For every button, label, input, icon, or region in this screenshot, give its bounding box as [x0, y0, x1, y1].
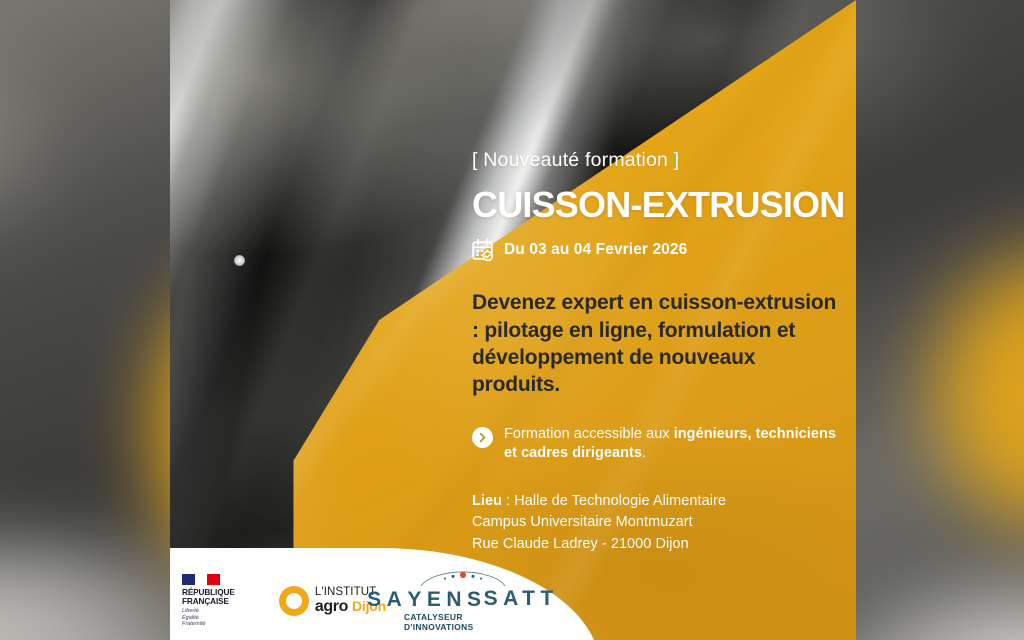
poster-canvas: [ Nouveauté formation ] CUISSON-EXTRUSIO…	[170, 0, 856, 640]
agro-circle-mark-icon	[279, 586, 309, 616]
audience-text: Formation accessible aux ingénieurs, tec…	[504, 425, 844, 464]
flag-red-stripe	[207, 574, 220, 585]
rf-motto-egalite: Égalité	[182, 615, 206, 622]
sayens-letter-1: S	[367, 589, 387, 610]
rf-name-line-2: FRANÇAISE	[182, 597, 229, 606]
chevron-right-circle-icon	[472, 427, 493, 448]
calendar-check-icon	[472, 239, 493, 261]
partner-logos: RÉPUBLIQUE FRANÇAISE Liberté Égalité Fra…	[182, 568, 522, 634]
venue-line-2: Campus Universitaire Montmuzart	[472, 512, 844, 533]
sayens-letter-2: A	[387, 589, 408, 610]
audience-suffix: .	[642, 445, 646, 461]
venue-separator: :	[502, 493, 514, 509]
eyebrow-label: [ Nouveauté formation ]	[472, 150, 844, 171]
rf-motto: Liberté Égalité Fraternité	[182, 608, 206, 628]
audience-prefix: Formation accessible aux	[504, 426, 674, 442]
sayens-logo: S A Y E N S SATT CATALYSEUR D'INNOVATION…	[404, 571, 522, 632]
venue-line-1: Lieu : Halle de Technologie Alimentaire	[472, 491, 844, 512]
date-row: Du 03 au 04 Fevrier 2026	[472, 239, 844, 261]
sayens-letter-4: E	[427, 589, 447, 610]
flag-blue-stripe	[182, 574, 195, 585]
sayens-letter-5: N	[446, 589, 467, 610]
rf-motto-liberte: Liberté	[182, 608, 206, 615]
rf-name-line-1: RÉPUBLIQUE	[182, 588, 235, 597]
flag-white-stripe	[195, 574, 208, 585]
lede-paragraph: Devenez expert en cuisson-extrusion : pi…	[472, 289, 844, 398]
venue-block: Lieu : Halle de Technologie Alimentaire …	[472, 491, 844, 554]
sayens-tagline: CATALYSEUR D'INNOVATIONS	[404, 612, 522, 632]
date-text: Du 03 au 04 Fevrier 2026	[504, 241, 687, 259]
page-title: CUISSON-EXTRUSION	[472, 187, 844, 223]
rf-motto-fraternite: Fraternité	[182, 621, 206, 628]
venue-place: Halle de Technologie Alimentaire	[514, 493, 726, 509]
sayens-letter-3: Y	[407, 589, 427, 610]
audience-row: Formation accessible aux ingénieurs, tec…	[472, 425, 844, 464]
venue-label: Lieu	[472, 493, 502, 509]
sayens-satt-superscript: SATT	[484, 588, 559, 609]
sayens-arc-icon	[418, 571, 508, 587]
venue-line-3: Rue Claude Ladrey - 21000 Dijon	[472, 534, 844, 555]
specular-highlight-dot	[234, 255, 245, 266]
poster-screenshot: [ Nouveauté formation ] CUISSON-EXTRUSIO…	[0, 0, 1024, 640]
french-flag-icon	[182, 574, 220, 585]
sayens-wordmark: S A Y E N S SATT	[367, 588, 559, 610]
republique-francaise-logo: RÉPUBLIQUE FRANÇAISE Liberté Égalité Fra…	[182, 574, 261, 628]
agro-word-agro: agro	[315, 599, 348, 615]
poster-content: [ Nouveauté formation ] CUISSON-EXTRUSIO…	[472, 150, 844, 555]
